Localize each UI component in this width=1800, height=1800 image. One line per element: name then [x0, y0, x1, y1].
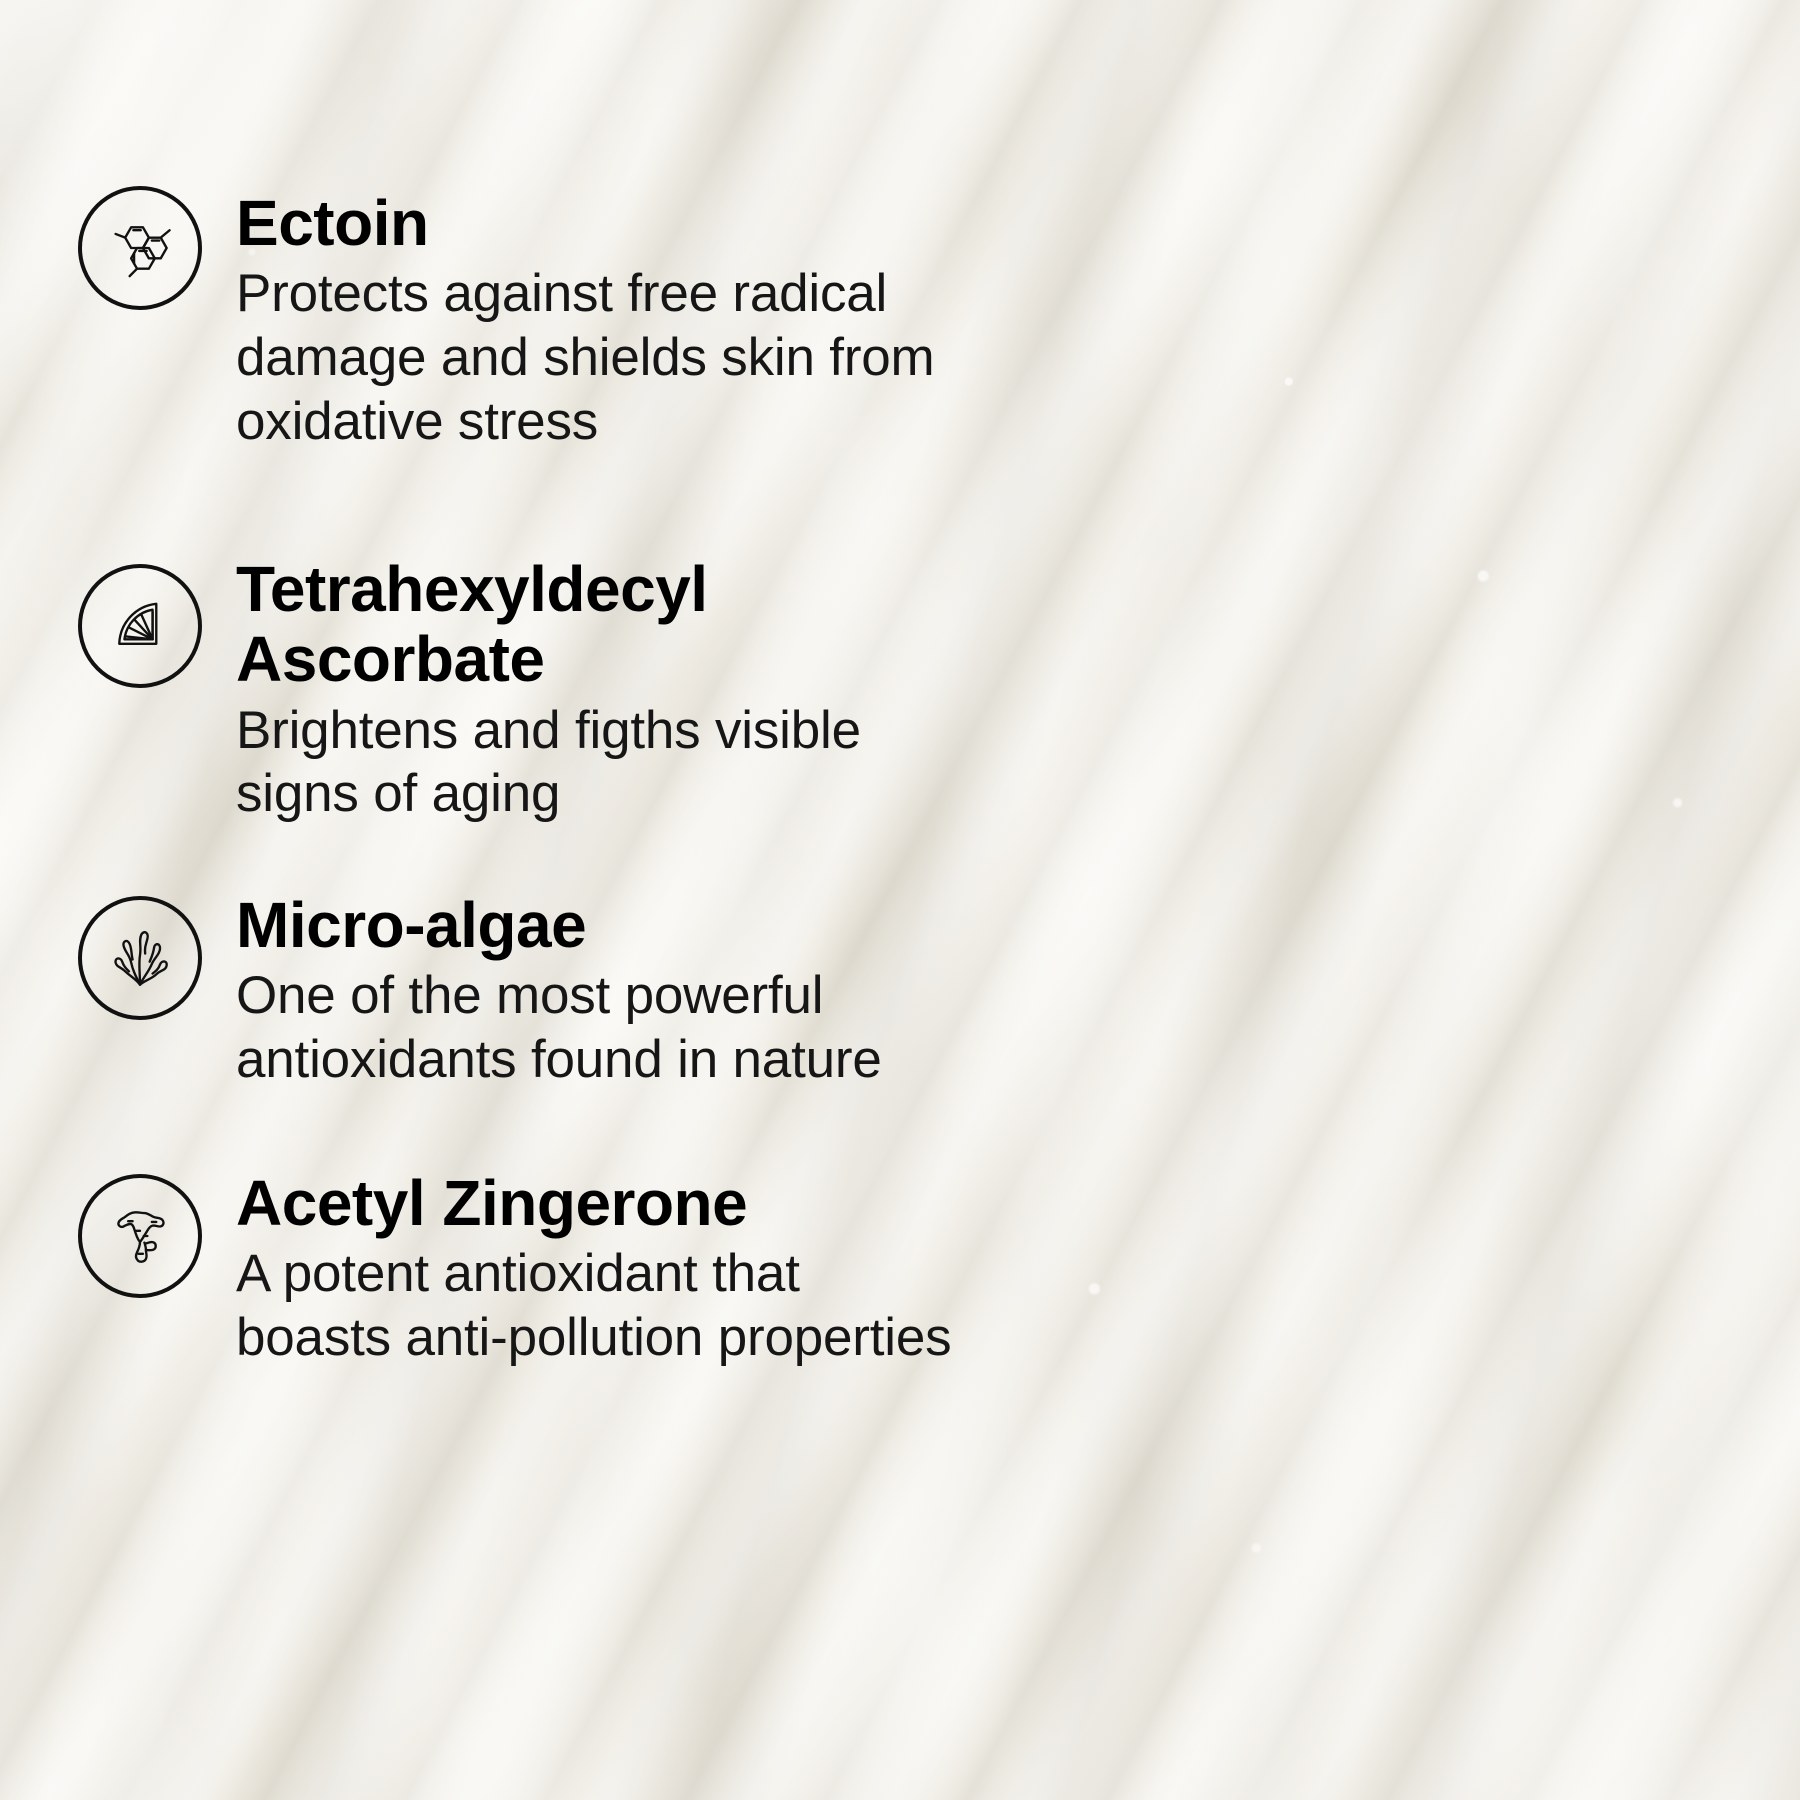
ingredient-title: Ectoin [236, 188, 935, 258]
ingredient-item-ectoin: Ectoin Protects against free radical dam… [78, 186, 935, 453]
ingredient-description: Brightens and figths visible signs of ag… [236, 699, 861, 826]
ingredient-text-block: Ectoin Protects against free radical dam… [236, 186, 935, 453]
molecule-icon [78, 186, 202, 310]
ingredient-text-block: Micro-algae One of the most powerful ant… [236, 888, 882, 1092]
ingredient-title: Tetrahexyldecyl Ascorbate [236, 554, 861, 695]
ingredient-title: Acetyl Zingerone [236, 1168, 951, 1238]
ingredient-description: Protects against free radical damage and… [236, 262, 935, 453]
ingredient-list: Ectoin Protects against free radical dam… [0, 0, 1800, 1800]
ginger-root-icon [78, 1174, 202, 1298]
citrus-slice-icon [78, 564, 202, 688]
ingredient-text-block: Acetyl Zingerone A potent antioxidant th… [236, 1166, 951, 1370]
infographic-canvas: Ectoin Protects against free radical dam… [0, 0, 1800, 1800]
ingredient-item-tetrahexyldecyl-ascorbate: Tetrahexyldecyl Ascorbate Brightens and … [78, 552, 861, 826]
ingredient-text-block: Tetrahexyldecyl Ascorbate Brightens and … [236, 552, 861, 826]
ingredient-description: One of the most powerful antioxidants fo… [236, 964, 882, 1091]
seaweed-icon [78, 896, 202, 1020]
ingredient-item-acetyl-zingerone: Acetyl Zingerone A potent antioxidant th… [78, 1166, 951, 1370]
ingredient-description: A potent antioxidant that boasts anti-po… [236, 1242, 951, 1369]
ingredient-item-micro-algae: Micro-algae One of the most powerful ant… [78, 888, 882, 1092]
ingredient-title: Micro-algae [236, 890, 882, 960]
